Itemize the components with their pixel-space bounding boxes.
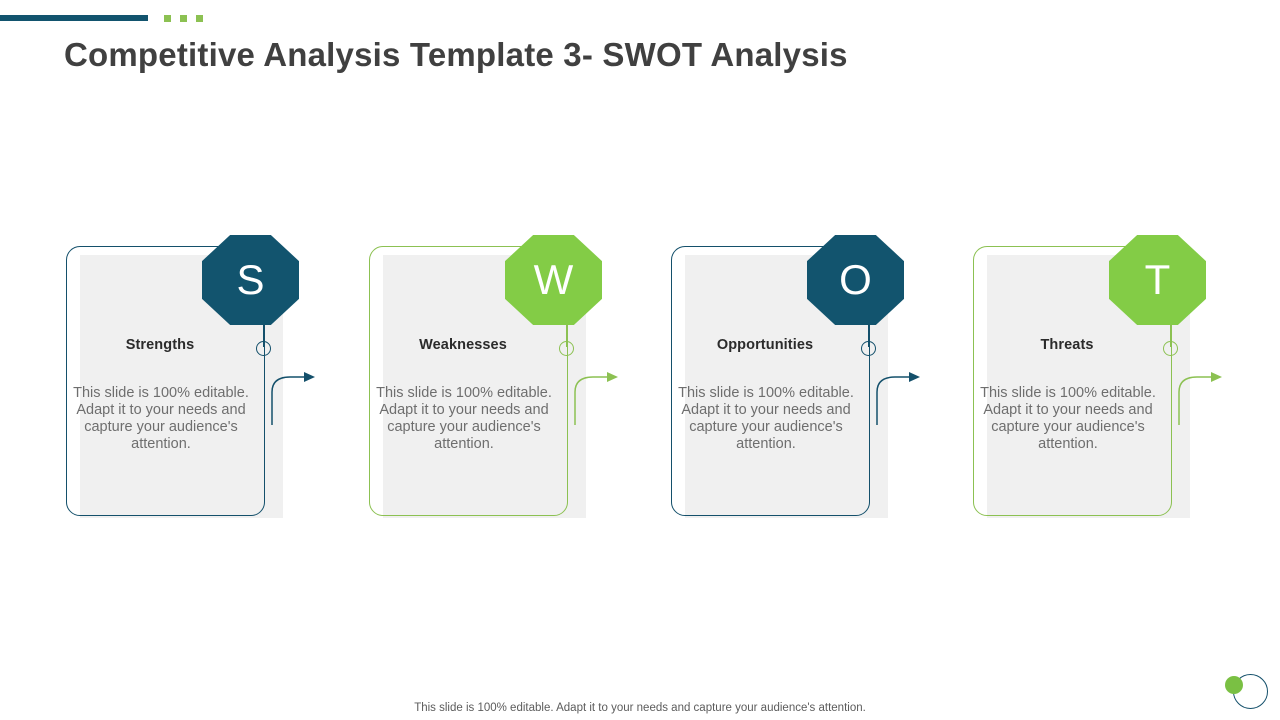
curved-arrow-icon [1157, 350, 1227, 425]
badge-letter: W [534, 259, 574, 301]
swot-card-threats[interactable]: T Threats This slide is 100% editable. A… [961, 230, 1261, 530]
card-heading: Opportunities [675, 337, 855, 353]
header-accent-dot-3 [196, 15, 203, 22]
card-heading: Threats [977, 337, 1157, 353]
card-heading: Weaknesses [373, 337, 553, 353]
badge-letter: O [839, 259, 872, 301]
header-accent-dot-2 [180, 15, 187, 22]
header-accent-dot-1 [164, 15, 171, 22]
swot-card-weaknesses[interactable]: W Weaknesses This slide is 100% editable… [357, 230, 657, 530]
badge-letter: T [1145, 259, 1171, 301]
octagon-badge-icon: S [202, 235, 299, 325]
header-accent-rule [0, 15, 148, 21]
octagon-badge-icon: W [505, 235, 602, 325]
page-title: Competitive Analysis Template 3- SWOT An… [64, 36, 848, 74]
swot-card-opportunities[interactable]: O Opportunities This slide is 100% edita… [659, 230, 959, 530]
footer-note: This slide is 100% editable. Adapt it to… [0, 702, 1280, 714]
card-body-text: This slide is 100% editable. Adapt it to… [373, 385, 555, 453]
curved-arrow-icon [250, 350, 320, 425]
octagon-badge-icon: T [1109, 235, 1206, 325]
card-heading: Strengths [70, 337, 250, 353]
card-body-text: This slide is 100% editable. Adapt it to… [675, 385, 857, 453]
octagon-badge-icon: O [807, 235, 904, 325]
card-body-text: This slide is 100% editable. Adapt it to… [70, 385, 252, 453]
curved-arrow-icon [553, 350, 623, 425]
swot-card-group: S Strengths This slide is 100% editable.… [0, 230, 1280, 530]
card-body-text: This slide is 100% editable. Adapt it to… [977, 385, 1159, 453]
badge-letter: S [236, 259, 264, 301]
swot-card-strengths[interactable]: S Strengths This slide is 100% editable.… [54, 230, 354, 530]
corner-dot-icon [1225, 676, 1243, 694]
curved-arrow-icon [855, 350, 925, 425]
